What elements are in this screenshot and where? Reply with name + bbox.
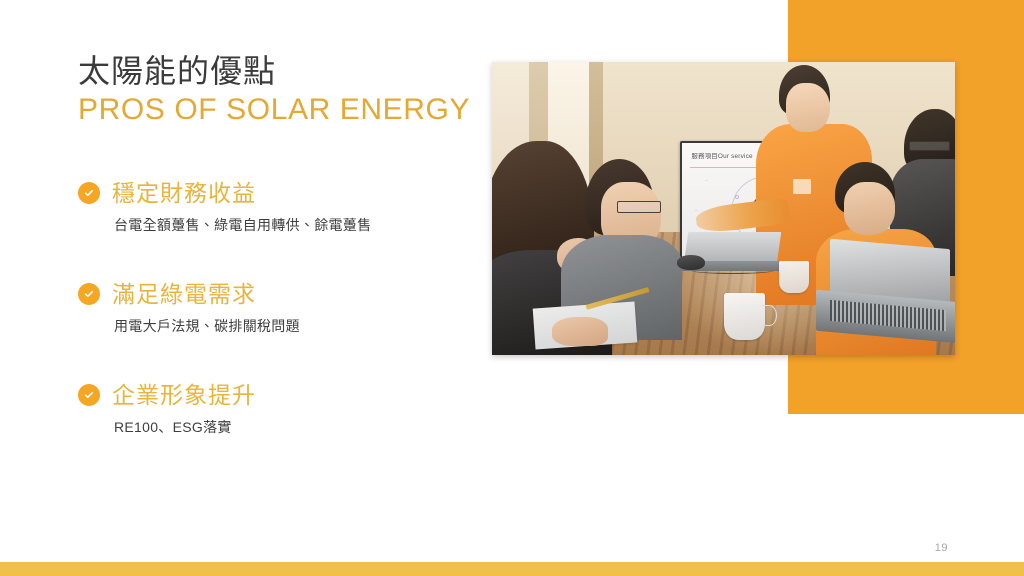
check-circle-icon	[78, 384, 100, 406]
list-item-header: 企業形象提升	[78, 380, 478, 410]
check-circle-icon	[78, 283, 100, 305]
list-item-subtitle: 台電全額躉售、綠電自用轉供、餘電躉售	[114, 215, 478, 235]
presenter-badge	[793, 179, 812, 194]
eyeglasses-icon	[909, 141, 951, 151]
list-item-title: 企業形象提升	[112, 380, 256, 410]
list-item-title: 穩定財務收益	[112, 178, 256, 208]
decorative-bottom-bar	[0, 562, 1024, 576]
diagram-label: —	[695, 208, 698, 212]
screen-title: 服務項目Our service	[692, 151, 753, 160]
diagram-label: —	[705, 178, 708, 182]
coffee-mug	[779, 261, 809, 293]
list-item-subtitle: 用電大戶法規、碳排關稅問題	[114, 316, 478, 336]
presenter-face	[786, 83, 830, 133]
list-item-subtitle: RE100、ESG落實	[114, 417, 478, 437]
eyeglasses-icon	[617, 201, 661, 213]
title-chinese: 太陽能的優點	[78, 52, 498, 90]
meeting-room-photo: 服務項目Our service 陽光伏圖 — —	[492, 62, 955, 355]
seated-staff-face	[844, 182, 895, 235]
coffee-mug	[724, 293, 766, 340]
title-english: PROS OF SOLAR ENERGY	[78, 92, 498, 128]
list-item: 滿足綠電需求 用電大戶法規、碳排關稅問題	[78, 279, 478, 336]
list-item: 企業形象提升 RE100、ESG落實	[78, 380, 478, 437]
person-hand	[552, 317, 608, 346]
page-number: 19	[935, 542, 948, 554]
photo-scene: 服務項目Our service 陽光伏圖 — —	[492, 62, 955, 355]
benefits-list: 穩定財務收益 台電全額躉售、綠電自用轉供、餘電躉售 滿足綠電需求 用電大戶法規、…	[78, 178, 478, 437]
check-circle-icon	[78, 182, 100, 204]
slide-canvas: 太陽能的優點 PROS OF SOLAR ENERGY 穩定財務收益 台電全額躉…	[0, 0, 1024, 576]
list-item: 穩定財務收益 台電全額躉售、綠電自用轉供、餘電躉售	[78, 178, 478, 235]
list-item-header: 穩定財務收益	[78, 178, 478, 208]
list-item-header: 滿足綠電需求	[78, 279, 478, 309]
page-title: 太陽能的優點 PROS OF SOLAR ENERGY	[78, 52, 498, 128]
list-item-title: 滿足綠電需求	[112, 279, 256, 309]
coffee-mug-handle	[762, 305, 777, 326]
